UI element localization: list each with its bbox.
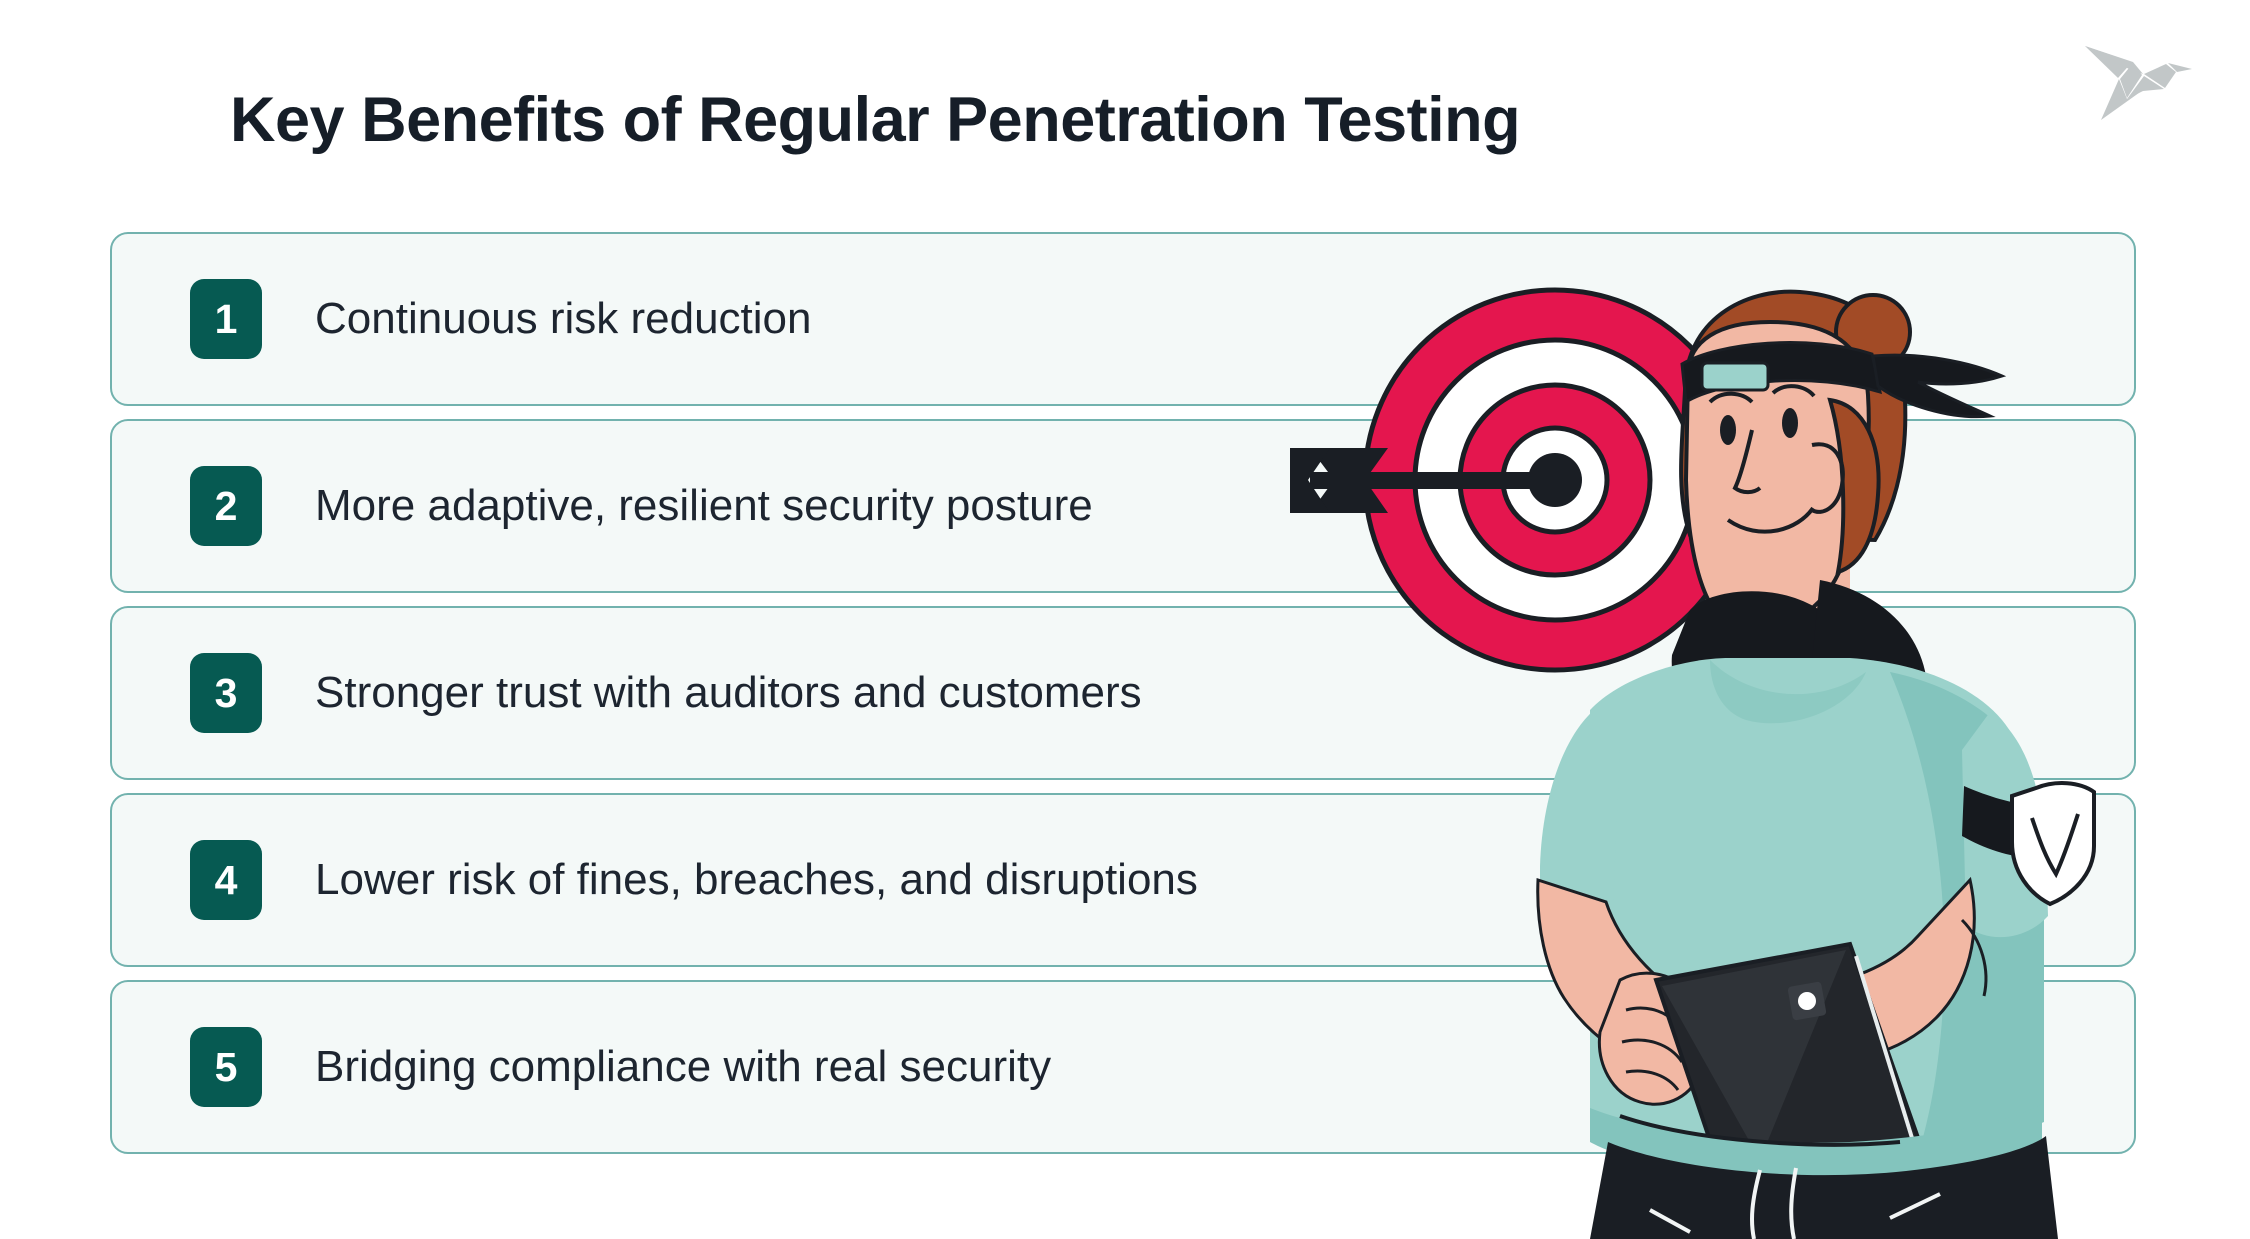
benefit-row-4[interactable]: 4 Lower risk of fines, breaches, and dis… [110,793,2136,967]
benefit-label: Bridging compliance with real security [315,1042,1051,1092]
benefit-label: Lower risk of fines, breaches, and disru… [315,855,1198,905]
benefit-number-badge: 2 [190,466,262,546]
benefit-label: More adaptive, resilient security postur… [315,481,1093,531]
origami-bird-icon [2080,28,2210,124]
benefit-row-2[interactable]: 2 More adaptive, resilient security post… [110,419,2136,593]
benefits-list: 1 Continuous risk reduction 2 More adapt… [110,232,2136,1167]
benefit-number-badge: 4 [190,840,262,920]
benefit-row-5[interactable]: 5 Bridging compliance with real security [110,980,2136,1154]
benefit-number-badge: 1 [190,279,262,359]
benefit-label: Continuous risk reduction [315,294,811,344]
benefit-row-1[interactable]: 1 Continuous risk reduction [110,232,2136,406]
benefit-number-badge: 5 [190,1027,262,1107]
benefit-number-badge: 3 [190,653,262,733]
page-title: Key Benefits of Regular Penetration Test… [230,84,2030,156]
benefit-label: Stronger trust with auditors and custome… [315,668,1142,718]
benefit-row-3[interactable]: 3 Stronger trust with auditors and custo… [110,606,2136,780]
slide-canvas: Key Benefits of Regular Penetration Test… [0,0,2250,1239]
